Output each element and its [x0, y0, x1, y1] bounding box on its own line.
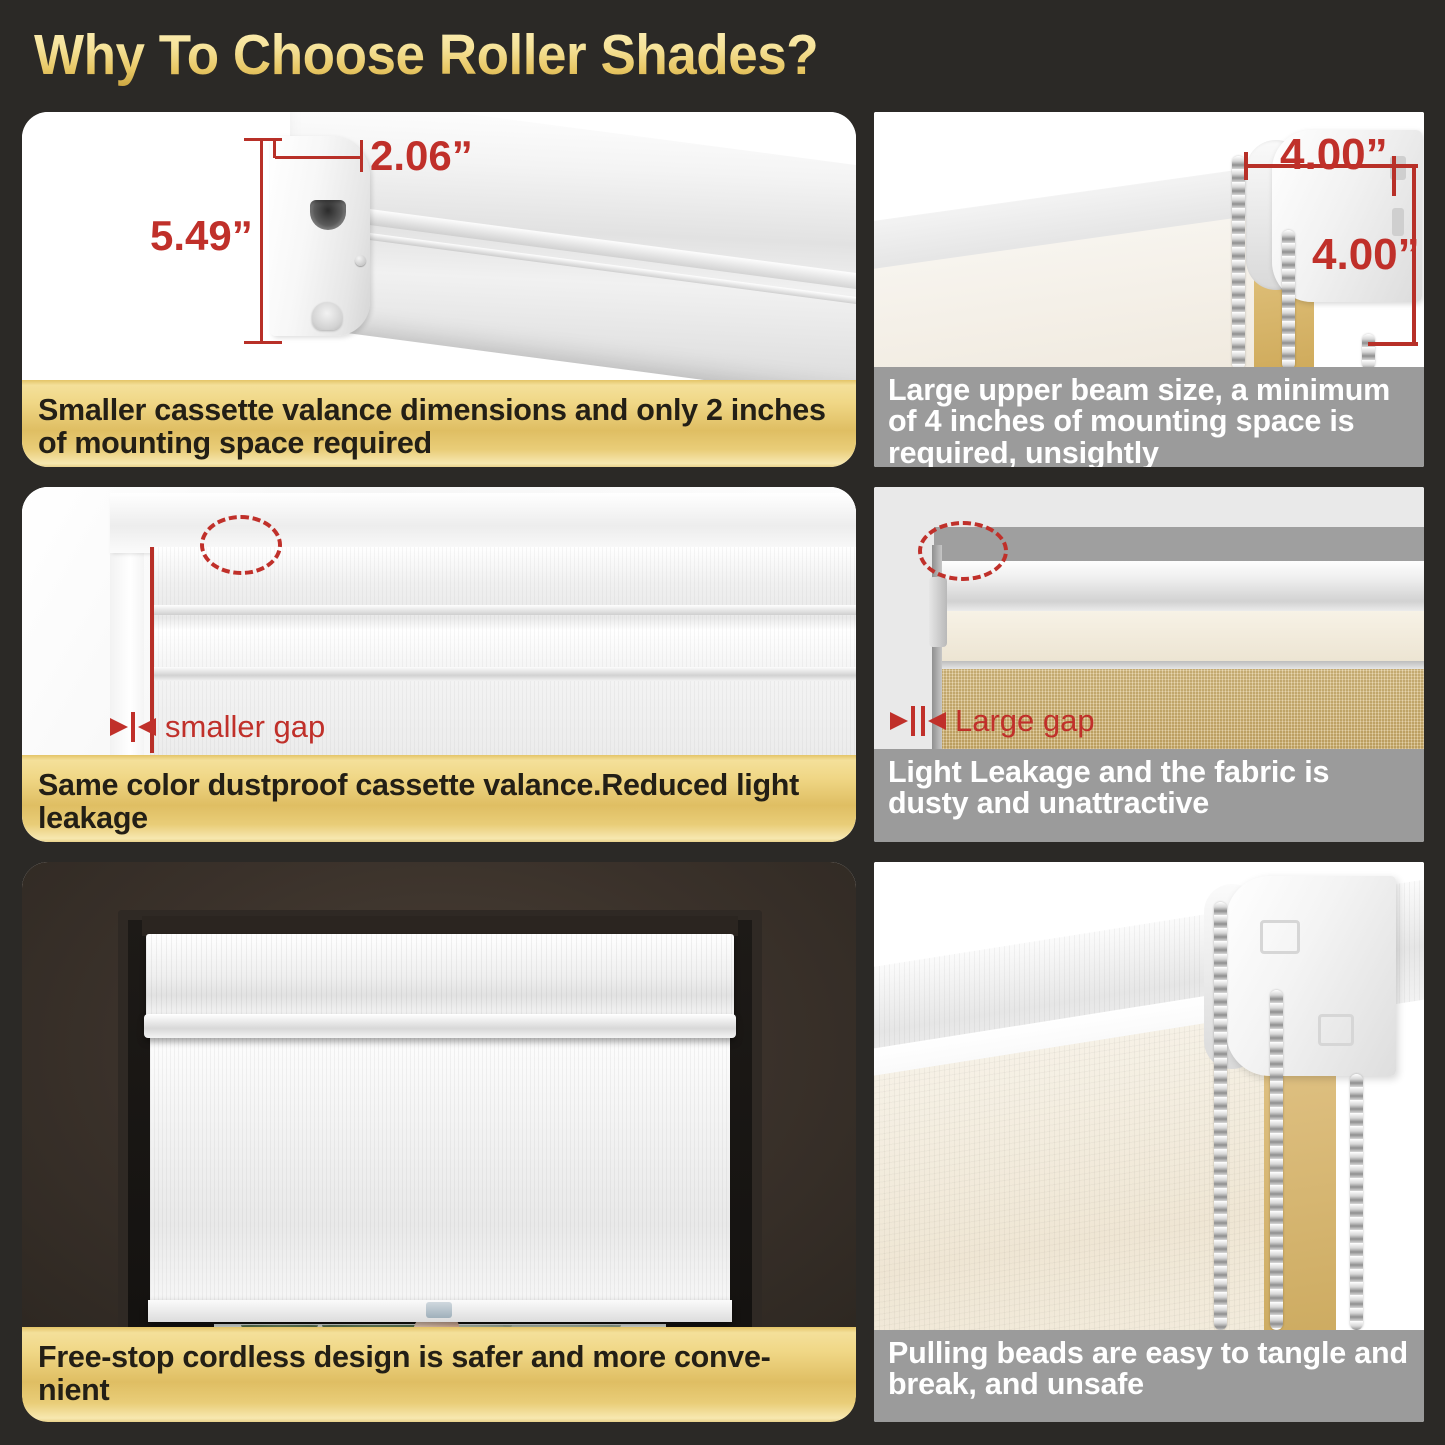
- beam-height-tick-top: [1380, 164, 1418, 168]
- arrow-right-icon: [890, 712, 908, 730]
- shade-mid-rail: [150, 667, 856, 681]
- gap-measure-bar: [911, 706, 915, 736]
- panel-good-1: 2.06” 5.49” Smaller cassette valance dim…: [22, 112, 856, 467]
- panel-bad-3: Pulling beads are easy to tangle and bre…: [874, 862, 1424, 1422]
- end-cap-screw: [355, 255, 366, 266]
- width-dim-tick-left: [273, 140, 276, 158]
- bracket-hook: [929, 577, 947, 647]
- arrow-left-icon: [928, 712, 946, 730]
- panel-bad-2-caption: Light Leakage and the fabric is dusty an…: [874, 749, 1424, 842]
- panel-bad-3-caption: Pulling beads are easy to tangle and bre…: [874, 1330, 1424, 1422]
- beam-height-label: 4.00”: [1312, 230, 1420, 280]
- bead-chain-middle: [1270, 990, 1283, 1330]
- height-dim-tick-bottom: [244, 341, 282, 344]
- callout-ellipse: [918, 521, 1008, 581]
- beam-height-tick-bottom: [1368, 342, 1418, 346]
- panel-good-2: smaller gap Same color dustproof cassett…: [22, 487, 856, 842]
- panel-good-3-image: [22, 862, 856, 1327]
- shade-fabric: [150, 1036, 730, 1306]
- large-gap-annotation: Large gap: [890, 703, 1095, 739]
- beam-width-tick-left: [1244, 152, 1248, 180]
- panel-good-2-caption: Same color dustproof cassette valance.Re…: [22, 755, 856, 842]
- cassette-valance: [146, 934, 734, 1022]
- smaller-gap-annotation: smaller gap: [110, 709, 325, 745]
- infographic-page: Why To Choose Roller Shades? 2.06” 5.49”…: [0, 0, 1445, 1445]
- bead-chain-right: [1362, 334, 1375, 370]
- panel-bad-2: Large gap Light Leakage and the fabric i…: [874, 487, 1424, 842]
- panel-bad-1-caption: Large upper beam size, a minimum of 4 in…: [874, 367, 1424, 467]
- height-dim-line: [260, 139, 263, 343]
- arrow-right-icon: [110, 718, 128, 736]
- arrow-left-icon: [138, 718, 156, 736]
- panel-good-3: Free-stop cordless design is safer and m…: [22, 862, 856, 1422]
- page-title: Why To Choose Roller Shades?: [34, 22, 818, 88]
- end-cap-slot-lower: [312, 302, 342, 330]
- panel-good-2-image: smaller gap: [22, 487, 856, 755]
- bead-chain-left: [1232, 156, 1245, 370]
- panel-bad-3-image: [874, 862, 1424, 1330]
- upper-beam: [936, 561, 1424, 615]
- beam-width-tick-right: [1392, 156, 1396, 196]
- panel-bad-1: 4.00” 4.00” Large upper beam size, a min…: [874, 112, 1424, 467]
- bead-chain-right: [1350, 1074, 1363, 1330]
- gap-measure-bar-2: [921, 706, 925, 736]
- panel-good-1-caption: Smaller cassette valance dimensions and …: [22, 380, 856, 467]
- width-dim-tick-right: [360, 140, 363, 172]
- panel-good-3-caption: Free-stop cordless design is safer and m…: [22, 1327, 856, 1422]
- bracket-emboss-2: [1318, 1014, 1354, 1046]
- panel-good-1-image: 2.06” 5.49”: [22, 112, 856, 380]
- width-dimension-label: 2.06”: [370, 132, 473, 180]
- beam-width-label: 4.00”: [1280, 130, 1388, 180]
- cassette-valance-rail: [150, 605, 856, 615]
- height-dim-tick-top: [244, 138, 282, 141]
- bracket-emboss-1: [1260, 920, 1300, 954]
- pull-tab: [426, 1302, 452, 1318]
- callout-ellipse: [200, 515, 282, 575]
- panel-bad-2-image: Large gap: [874, 487, 1424, 749]
- mounting-bracket: [1226, 876, 1396, 1076]
- width-dim-line: [275, 156, 363, 159]
- panel-bad-1-image: 4.00” 4.00”: [874, 112, 1424, 370]
- bead-chain-left: [1214, 902, 1227, 1330]
- window-head-sill: [142, 916, 738, 936]
- gap-measure-bar: [131, 712, 135, 742]
- bead-chain-middle: [1282, 230, 1295, 370]
- gap-label: Large gap: [955, 703, 1095, 739]
- valance-lip: [144, 1014, 736, 1038]
- cream-valance-strip: [938, 611, 1424, 663]
- height-dimension-label: 5.49”: [150, 212, 253, 260]
- gap-label: smaller gap: [165, 709, 325, 745]
